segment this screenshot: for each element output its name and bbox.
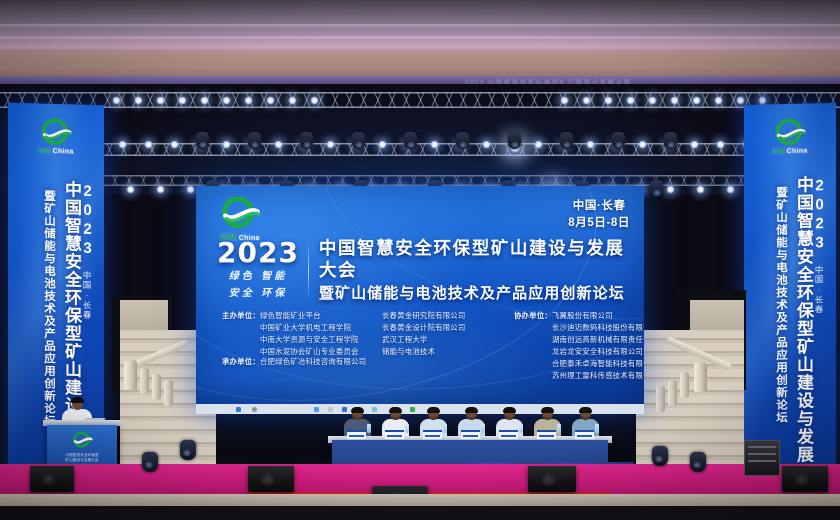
moving-head-light — [352, 132, 365, 149]
gim-logo: GIM China — [208, 195, 272, 242]
stage-lamp — [244, 96, 253, 105]
ceiling-band-stone — [0, 52, 840, 78]
venue-date-block: 中国·长春 8月5日-8日 — [568, 198, 630, 231]
panelist-hair — [351, 407, 364, 413]
co-organizer-list: 飞翼股份有限公司长沙迪迈数码科技股份有限公司湖南创远高新机械有限责任公司龙岩龙安… — [552, 310, 644, 382]
nameplate — [347, 430, 366, 439]
host-organizer-item: 绿色智能矿业平台 — [260, 310, 382, 322]
stage-lamp — [670, 96, 679, 105]
moving-head-light — [650, 180, 663, 197]
co-organizer-item: 飞翼股份有限公司 — [552, 310, 644, 322]
host-organizer-item: 中国矿业大学机电工程学院 — [260, 322, 382, 334]
water-bottle — [557, 424, 561, 433]
title-lines: 中国智慧安全环保型矿山建设与发展大会 暨矿山储能与电池技术及产品应用创新论坛 — [319, 238, 630, 303]
baluster — [668, 380, 677, 406]
moving-head-light — [652, 446, 668, 466]
water-bottle — [481, 424, 485, 433]
taskbar-icon[interactable] — [410, 407, 415, 412]
banner-logo-left: GIM China — [29, 117, 83, 156]
moving-head-light — [300, 132, 313, 149]
moving-head-light — [180, 440, 196, 460]
gim-swoosh-icon — [773, 118, 807, 151]
stage-lamp — [200, 96, 209, 105]
stage-lamp — [266, 96, 275, 105]
stage-lamp — [274, 140, 283, 149]
nameplate — [537, 430, 556, 439]
host-organizer-item: 武汉工程大学 — [382, 334, 500, 346]
moving-head-light — [248, 132, 261, 149]
baluster — [680, 372, 689, 398]
executive-organizer-value: 合肥绿色矿冶科技咨询有限公司 — [260, 356, 366, 367]
nameplate — [575, 430, 594, 439]
stage-lamp — [482, 140, 491, 149]
stage-lamp — [178, 96, 187, 105]
moving-head-light — [508, 132, 521, 149]
stage-lamp — [626, 96, 635, 105]
banner-year-right: 2023 — [811, 177, 828, 253]
water-bottle — [367, 424, 371, 433]
moving-head-light — [560, 132, 573, 149]
moving-head-light — [196, 132, 209, 149]
panelist-hair — [389, 407, 402, 413]
panelist-hair — [503, 407, 516, 413]
ceiling-band-trim — [0, 36, 840, 39]
search-icon[interactable] — [252, 407, 257, 412]
moving-head-light — [690, 452, 706, 472]
stage-lamp — [170, 140, 179, 149]
gim-swoosh-icon — [219, 195, 261, 235]
panelist-hair — [465, 407, 478, 413]
stage-lamp — [186, 185, 195, 194]
stage-lamp — [326, 140, 335, 149]
panelist-hair — [541, 407, 554, 413]
stage-monitor-speaker — [30, 466, 74, 492]
conference-title: 中国智慧安全环保型矿山建设与发展大会 — [319, 238, 630, 282]
nameplate — [385, 430, 404, 439]
banner-logo-right: GIM China — [763, 117, 817, 155]
main-led-screen: GIM China 中国·长春 8月5日-8日 2023 绿色 智能 安全 环保… — [196, 186, 644, 414]
co-organizer-item: 龙岩龙安安全科技有限公司 — [552, 346, 644, 358]
nameplate — [499, 430, 518, 439]
stage-monitor-speaker — [782, 466, 828, 492]
banner-year-left: 2023 — [79, 183, 96, 259]
host-organizers: 主办单位： 绿色智能矿业平台中国矿业大学机电工程学院中南大学资源与安全工程学院中… — [222, 310, 500, 382]
taskbar-icon[interactable] — [314, 407, 319, 412]
stage-lamp — [716, 140, 725, 149]
taskbar-icon[interactable] — [328, 407, 333, 412]
speaker-hair — [71, 397, 84, 403]
co-organizer-label: 协办单位： — [514, 310, 552, 382]
host-list-column-2: 长春黄金研究院有限公司长春黄金设计院有限公司武汉工程大学储能与电池技术 — [382, 310, 500, 382]
event-dates: 8月5日-8日 — [568, 215, 630, 232]
year-slogan-block: 2023 绿色 智能 安全 环保 — [210, 240, 306, 301]
stage-lamp — [156, 96, 165, 105]
gim-swoosh-icon — [71, 431, 93, 451]
banner-subtitle-right: 暨矿山储能与电池技术及产品应用创新论坛 — [774, 186, 786, 470]
moving-head-light — [456, 132, 469, 149]
moving-head-light — [404, 132, 417, 149]
stage-lamp — [222, 96, 231, 105]
taskbar-icon[interactable] — [372, 407, 377, 412]
host-organizer-item: 长春黄金研究院有限公司 — [382, 310, 500, 322]
moving-head-light — [142, 452, 158, 472]
co-organizers: 协办单位： 飞翼股份有限公司长沙迪迈数码科技股份有限公司湖南创远高新机械有限责任… — [514, 310, 644, 382]
slogan-line-2: 安全 环保 — [210, 286, 306, 301]
conference-photo: 2023 中国智慧安全环保型矿山建设与发展大会 GIM China 2023 中… — [0, 0, 840, 520]
moving-head-light — [664, 132, 677, 149]
title-divider — [308, 240, 309, 301]
foreground-shadow — [0, 506, 840, 520]
baluster — [656, 386, 665, 412]
stage-lamp — [714, 96, 723, 105]
stage-lamp — [666, 185, 675, 194]
stage-lamp — [118, 140, 127, 149]
stage-lamp — [638, 140, 647, 149]
host-list-column-1: 绿色智能矿业平台中国矿业大学机电工程学院中南大学资源与安全工程学院中国水泥协会矿… — [260, 310, 382, 382]
water-bottle — [405, 424, 409, 433]
taskbar-icon[interactable] — [236, 407, 241, 412]
stage-lamp — [126, 185, 135, 194]
stage-lamp — [582, 96, 591, 105]
stage-lamp — [736, 96, 745, 105]
organizers-block: 主办单位： 绿色智能矿业平台中国矿业大学机电工程学院中南大学资源与安全工程学院中… — [222, 310, 626, 382]
stage-lamp — [378, 140, 387, 149]
co-organizer-item: 湖南创远高新机械有限责任公司 — [552, 334, 644, 346]
co-organizer-item: 苏州理工雷科传感技术有限公司 — [552, 370, 644, 382]
banner-venue-left: 中国·长春 — [81, 271, 93, 320]
slogan-line-1: 绿色 智能 — [210, 269, 306, 284]
water-bottle — [595, 424, 599, 433]
moving-head-light — [612, 132, 625, 149]
banner-venue-right: 中国·长春 — [813, 265, 825, 314]
stage-lamp — [648, 96, 657, 105]
executive-organizer-block: 承办单位： 合肥绿色矿冶科技咨询有限公司 — [222, 356, 366, 367]
ceiling-architecture: 2023 中国智慧安全环保型矿山建设与发展大会 — [0, 0, 840, 86]
screen-title-block: 2023 绿色 智能 安全 环保 中国智慧安全环保型矿山建设与发展大会 暨矿山储… — [210, 238, 630, 303]
stage-lamp — [560, 96, 569, 105]
stage-lamp — [726, 185, 735, 194]
panelist-hair — [579, 407, 592, 413]
balustrade-newel-left — [124, 360, 137, 390]
co-organizer-item: 合肥泰禾卓海智能科技有限公司 — [552, 358, 644, 370]
stage-lamp — [156, 185, 165, 194]
side-banner-right: GIM China 2023 中国·长春 中国智慧安全环保型矿山建设与发展大会 … — [744, 103, 836, 485]
nameplate — [461, 430, 480, 439]
stage-lamp — [692, 96, 701, 105]
stage-lamp — [112, 96, 121, 105]
venue-city: 中国·长春 — [568, 198, 630, 215]
host-label: 主办单位： — [222, 310, 260, 382]
stage-lamp — [534, 140, 543, 149]
banner-title-right: 中国智慧安全环保型矿山建设与发展大会 — [794, 175, 812, 471]
stage-lamp — [310, 96, 319, 105]
nameplate — [423, 430, 442, 439]
stage-lamp — [430, 140, 439, 149]
co-organizer-item: 长沙迪迈数码科技股份有限公司 — [552, 322, 644, 334]
equipment-flight-case — [744, 440, 780, 476]
balustrade-newel-right — [694, 362, 707, 392]
podium-caption-1: 中国智慧安全环保型矿山建设与发展大会 — [65, 453, 100, 463]
water-bottle — [443, 424, 447, 433]
gim-swoosh-icon — [39, 118, 73, 151]
stage-lamp — [134, 96, 143, 105]
stage-lamp — [586, 140, 595, 149]
stage-lamp — [604, 96, 613, 105]
ceiling-band-upper — [0, 24, 840, 29]
stage-monitor-speaker — [528, 466, 576, 492]
host-organizer-item: 长春黄金设计院有限公司 — [382, 322, 500, 334]
stage-lamp — [288, 96, 297, 105]
host-organizer-item: 中南大学资源与安全工程学院 — [260, 334, 382, 346]
baluster — [140, 368, 149, 394]
baluster — [164, 380, 173, 406]
forum-subtitle: 暨矿山储能与电池技术及产品应用创新论坛 — [319, 284, 630, 304]
stage-lamp — [144, 140, 153, 149]
water-bottle — [519, 424, 523, 433]
stage-lamp — [222, 140, 231, 149]
stage-lamp — [690, 140, 699, 149]
stage-lamp — [696, 185, 705, 194]
panelist-hair — [427, 407, 440, 413]
baluster — [152, 374, 161, 400]
executive-organizer-label: 承办单位： — [222, 356, 260, 367]
host-organizer-item: 储能与电池技术 — [382, 346, 500, 358]
event-year: 2023 — [210, 240, 306, 267]
stage-monitor-speaker — [248, 466, 294, 492]
